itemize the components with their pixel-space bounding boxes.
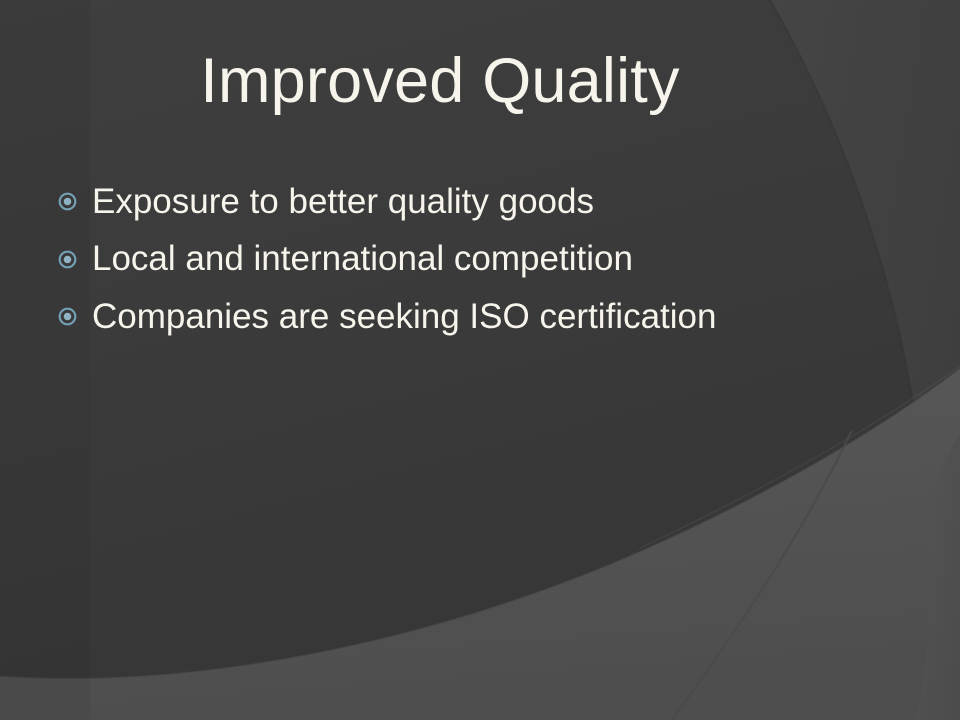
list-item: Local and international competition	[58, 231, 908, 289]
bullet-list: Exposure to better quality goods Local a…	[58, 173, 908, 346]
bullet-text: Companies are seeking ISO certification	[92, 298, 716, 336]
list-item: Exposure to better quality goods	[58, 173, 908, 231]
ring-dot-bullet-icon	[58, 307, 77, 326]
ring-dot-bullet-icon	[58, 192, 77, 211]
presentation-slide: Improved Quality Exposure to better qual…	[0, 0, 960, 720]
slide-title: Improved Quality	[0, 50, 880, 113]
bullet-text: Exposure to better quality goods	[92, 183, 594, 221]
ring-dot-bullet-icon	[58, 250, 77, 269]
list-item: Companies are seeking ISO certification	[58, 288, 908, 346]
bullet-text: Local and international competition	[92, 240, 633, 278]
slide-content: Improved Quality Exposure to better qual…	[0, 0, 960, 720]
